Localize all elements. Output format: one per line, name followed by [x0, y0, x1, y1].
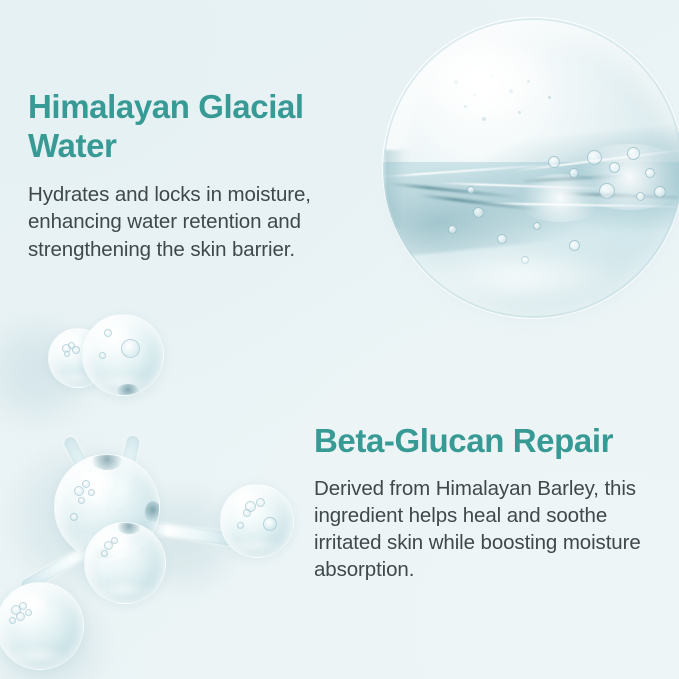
ingredient-heading-beta-glucan: Beta-Glucan Repair: [314, 422, 666, 461]
molecule-illustration: [0, 300, 310, 679]
sphere-rim: [382, 17, 679, 319]
ingredient-description-water: Hydrates and locks in moisture, enhancin…: [28, 181, 358, 263]
ingredient-heading-water: Himalayan Glacial Water: [28, 88, 358, 165]
atom-underglow: [95, 581, 153, 599]
atom-bubble-cluster: [64, 351, 70, 357]
ingredient-block-beta-glucan-repair: Beta-Glucan Repair Derived from Himalaya…: [314, 422, 666, 584]
molecule-atom-lower-left: [0, 582, 84, 670]
atom-bubble-cluster: [78, 497, 85, 504]
atom-bubble-cluster: [101, 550, 108, 557]
atom-inner-droplet: [121, 339, 140, 358]
atom-bubble-cluster: [111, 537, 118, 544]
ingredient-block-himalayan-glacial-water: Himalayan Glacial Water Hydrates and loc…: [28, 88, 358, 263]
atom-bubble-cluster: [237, 522, 244, 529]
atom-bond-socket: [117, 522, 141, 534]
atom-bubble-cluster: [9, 617, 16, 624]
ingredient-description-beta-glucan: Derived from Himalayan Barley, this ingr…: [314, 475, 666, 584]
atom-bond-socket: [145, 501, 160, 523]
atom-underglow: [230, 538, 282, 554]
atom-bond-socket: [117, 384, 139, 396]
atom-bubble-cluster: [74, 486, 84, 496]
molecule-atom-top: [82, 314, 164, 396]
infographic-canvas: Himalayan Glacial Water Hydrates and loc…: [0, 0, 679, 679]
water-sphere-illustration: [382, 17, 679, 319]
atom-bubble-cluster: [263, 517, 277, 531]
atom-bubble-cluster: [88, 489, 95, 496]
atom-bubble-cluster: [72, 346, 80, 354]
atom-bubble-cluster: [256, 498, 265, 507]
atom-bubble-cluster: [25, 609, 32, 616]
atom-bubble-cluster: [70, 513, 78, 521]
atom-bubble-cluster: [16, 612, 25, 621]
atom-bubble-cluster: [82, 480, 90, 488]
atom-bubble-cluster: [99, 352, 106, 359]
atom-underglow: [7, 646, 69, 665]
atom-bubble-cluster: [243, 509, 251, 517]
molecule-atom-right: [220, 484, 294, 558]
atom-bond-socket: [92, 454, 122, 470]
molecule-atom-lower-center: [84, 522, 166, 604]
